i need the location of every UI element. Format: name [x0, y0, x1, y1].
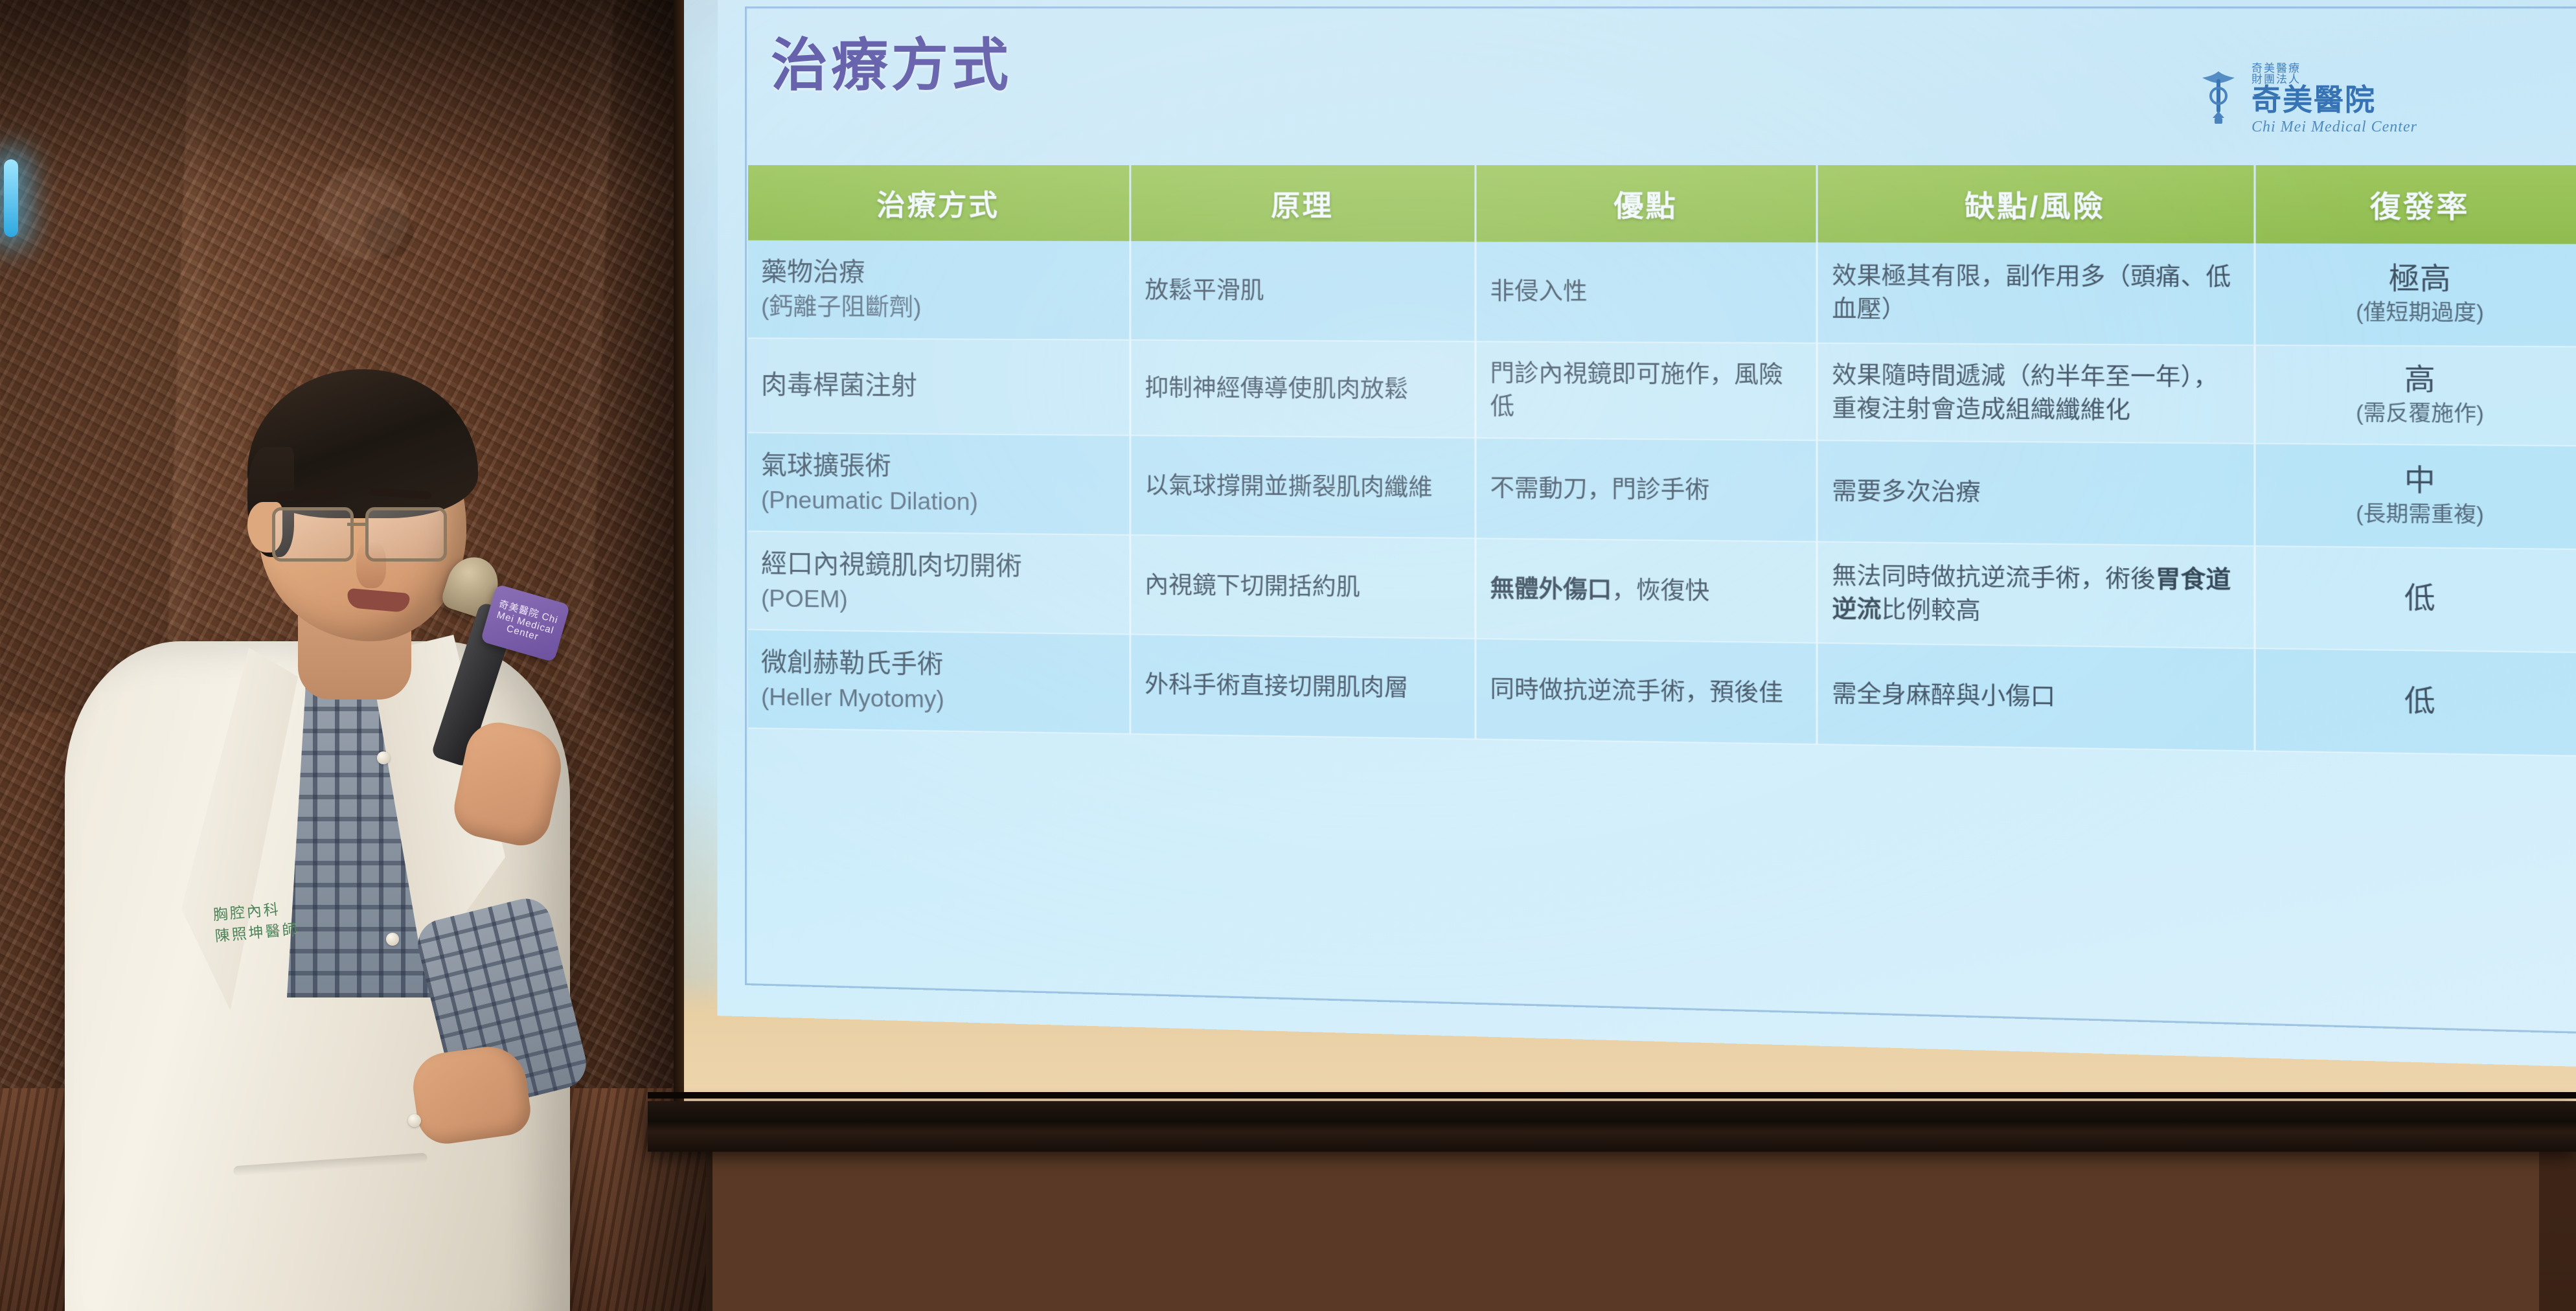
cell-recurrence: 高 (需反覆施作): [2255, 345, 2576, 446]
microphone-flag-label: 奇美醫院 Chi Mei Medical Center: [484, 597, 566, 649]
pros-rest: ，恢復快: [1612, 576, 1709, 605]
treatment-subname: (鈣離子阻斷劑): [761, 290, 1116, 325]
recurrence-level: 中: [2270, 462, 2571, 501]
cell-treatment: 微創赫勒氏手術 (Heller Myotomy): [748, 630, 1130, 734]
screenshot-root: 治療方式 奇美醫療 財團法人 奇美醫院 Chi Mei Medical Cent…: [0, 0, 2576, 1311]
table-row: 肉毒桿菌注射 抑制神經傳導使肌肉放鬆 門診內視鏡即可施作，風險低 效果隨時間遞減…: [748, 338, 2576, 446]
logo-subline-1: 奇美醫療: [2251, 63, 2417, 74]
coat-button: [386, 933, 399, 946]
coat-button: [408, 1114, 421, 1127]
recurrence-note: (需反覆施作): [2270, 398, 2571, 429]
cell-principle: 外科手術直接切開肌肉層: [1130, 634, 1476, 739]
treatment-name: 經口內視鏡肌肉切開術: [761, 546, 1116, 586]
cell-principle: 內視鏡下切開括約肌: [1130, 535, 1476, 639]
treatment-name: 微創赫勒氏手術: [761, 644, 1116, 685]
nose: [356, 541, 386, 588]
recurrence-level: 低: [2270, 580, 2571, 619]
treatment-comparison-table: 治療方式 原理 優點 缺點/風險 復發率 藥物治療 (鈣離子阻斷劑) 放鬆平滑肌…: [748, 165, 2576, 757]
cell-treatment: 肉毒桿菌注射: [748, 338, 1130, 435]
cell-recurrence: 極高 (僅短期過度): [2255, 244, 2576, 347]
cell-recurrence: 低: [2255, 546, 2576, 653]
cons-suffix: 比例較高: [1882, 596, 1981, 624]
col-header-principle: 原理: [1130, 165, 1476, 242]
cell-principle: 抑制神經傳導使肌肉放鬆: [1130, 340, 1476, 438]
treatment-name: 藥物治療: [761, 255, 1116, 291]
presenter: 奇美醫院 Chi Mei Medical Center 胸腔內科 陳照坤醫師: [19, 363, 674, 1311]
cell-pros: 不需動刀，門診手術: [1476, 438, 1817, 541]
glasses-bridge: [347, 523, 367, 526]
treatment-subname: (Heller Myotomy): [761, 681, 1116, 719]
caduceus-icon: [2194, 66, 2242, 131]
screen-frame-left: [674, 0, 684, 1109]
cell-recurrence: 低: [2255, 648, 2576, 756]
coat-button: [377, 751, 390, 764]
cons-prefix: 無法同時做抗逆流手術，術後: [1832, 562, 2155, 593]
cell-cons: 效果極其有限，副作用多（頭痛、低血壓）: [1818, 242, 2255, 345]
blue-accent-light: [4, 159, 18, 237]
logo-text-block: 奇美醫療 財團法人 奇美醫院 Chi Mei Medical Center: [2251, 63, 2417, 135]
table-row: 藥物治療 (鈣離子阻斷劑) 放鬆平滑肌 非侵入性 效果極其有限，副作用多（頭痛、…: [748, 240, 2576, 347]
recurrence-level: 極高: [2270, 262, 2571, 299]
screen-bottom-edge: [648, 1092, 2576, 1099]
pros-highlight: 無體外傷口: [1490, 575, 1612, 604]
col-header-recurrence: 復發率: [2255, 165, 2576, 244]
treatment-subname: (POEM): [761, 585, 848, 613]
table-row: 氣球擴張術 (Pneumatic Dilation) 以氣球撐開並撕裂肌肉纖維 …: [748, 433, 2576, 549]
screen-bottom-frame: [648, 1101, 2576, 1152]
slide-title: 治療方式: [771, 19, 1012, 102]
cell-principle: 放鬆平滑肌: [1130, 241, 1476, 341]
wall-top-shadow: [0, 0, 706, 194]
treatment-name: 氣球擴張術: [761, 448, 1116, 486]
col-header-pros: 優點: [1476, 165, 1817, 242]
cell-cons: 效果隨時間遞減（約半年至一年），重複注射會造成組織纖維化: [1818, 343, 2255, 443]
cell-treatment: 氣球擴張術 (Pneumatic Dilation): [748, 433, 1130, 535]
treatment-subname: (Pneumatic Dilation): [761, 483, 1116, 519]
table-header-row: 治療方式 原理 優點 缺點/風險 復發率: [748, 165, 2576, 244]
cell-principle: 以氣球撐開並撕裂肌肉纖維: [1130, 435, 1476, 538]
recurrence-level: 高: [2270, 362, 2571, 400]
cell-pros: 無體外傷口，恢復快: [1476, 538, 1817, 643]
treatment-name: 肉毒桿菌注射: [761, 367, 1116, 405]
recurrence-level: 低: [2270, 682, 2571, 722]
cell-recurrence: 中 (長期需重複): [2255, 443, 2576, 549]
col-header-cons-risk: 缺點/風險: [1818, 165, 2255, 244]
logo-name-en: Chi Mei Medical Center: [2251, 119, 2417, 135]
col-header-treatment: 治療方式: [748, 165, 1130, 241]
cell-treatment: 藥物治療 (鈣離子阻斷劑): [748, 240, 1130, 340]
cell-cons: 需全身麻醉與小傷口: [1818, 643, 2255, 751]
cell-pros: 同時做抗逆流手術，預後佳: [1476, 639, 1817, 744]
recurrence-note: (僅短期過度): [2270, 297, 2571, 328]
cell-cons: 無法同時做抗逆流手術，術後胃食道逆流比例較高: [1818, 541, 2255, 648]
lens-left: [272, 507, 354, 562]
cell-treatment: 經口內視鏡肌肉切開術 (POEM): [748, 531, 1130, 635]
logo-name-cn: 奇美醫院: [2251, 85, 2376, 115]
recurrence-note: (長期需重複): [2270, 498, 2571, 530]
hospital-logo: 奇美醫療 財團法人 奇美醫院 Chi Mei Medical Center: [2194, 60, 2454, 137]
cell-pros: 非侵入性: [1476, 242, 1817, 343]
cell-pros: 門診內視鏡即可施作，風險低: [1476, 341, 1817, 440]
cell-cons: 需要多次治療: [1818, 440, 2255, 545]
